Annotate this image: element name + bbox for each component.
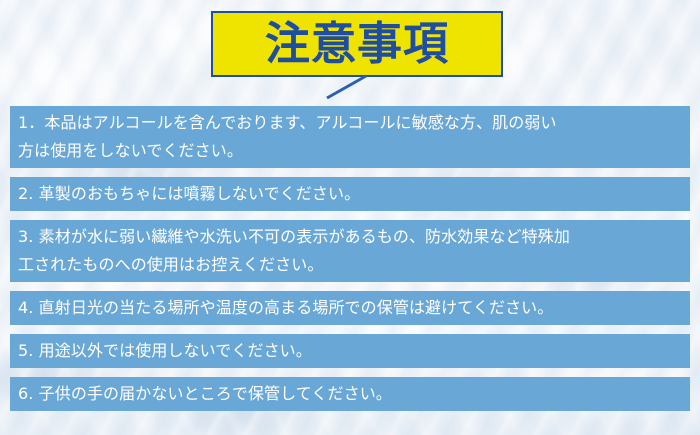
page-title: 注意事項 <box>265 21 449 66</box>
notice-row: 5. 用途以外では使用しないでください。 <box>10 334 690 368</box>
notice-line: 2. 革製のおもちゃには噴霧しないでください。 <box>18 180 682 208</box>
notice-line: 1．本品はアルコールを含んでおります、アルコールに敏感な方、肌の弱い <box>18 109 682 137</box>
notice-row: 2. 革製のおもちゃには噴霧しないでください。 <box>10 177 690 211</box>
title-box: 注意事項 <box>211 11 503 77</box>
notice-line: 4. 直射日光の当たる場所や温度の高まる場所での保管は避けてください。 <box>18 294 682 322</box>
notice-row: 4. 直射日光の当たる場所や温度の高まる場所での保管は避けてください。 <box>10 291 690 325</box>
header-banner: 注意事項 <box>0 0 700 104</box>
notice-row: 3. 素材が水に弱い繊維や水洗い不可の表示があるもの、防水効果など特殊加 工され… <box>10 220 690 282</box>
notice-list: 1．本品はアルコールを含んでおります、アルコールに敏感な方、肌の弱い 方は使用を… <box>10 106 690 420</box>
notice-row: 6. 子供の手の届かないところで保管してください。 <box>10 377 690 411</box>
callout-tail-icon <box>324 74 370 100</box>
notice-row: 1．本品はアルコールを含んでおります、アルコールに敏感な方、肌の弱い 方は使用を… <box>10 106 690 168</box>
notice-line: 方は使用をしないでください。 <box>18 137 682 165</box>
notice-line: 3. 素材が水に弱い繊維や水洗い不可の表示があるもの、防水効果など特殊加 <box>18 223 682 251</box>
notice-line: 工されたものへの使用はお控えください。 <box>18 251 682 279</box>
notice-poster: 注意事項 1．本品はアルコールを含んでおります、アルコールに敏感な方、肌の弱い … <box>0 0 700 435</box>
notice-line: 6. 子供の手の届かないところで保管してください。 <box>18 380 682 408</box>
notice-line: 5. 用途以外では使用しないでください。 <box>18 337 682 365</box>
